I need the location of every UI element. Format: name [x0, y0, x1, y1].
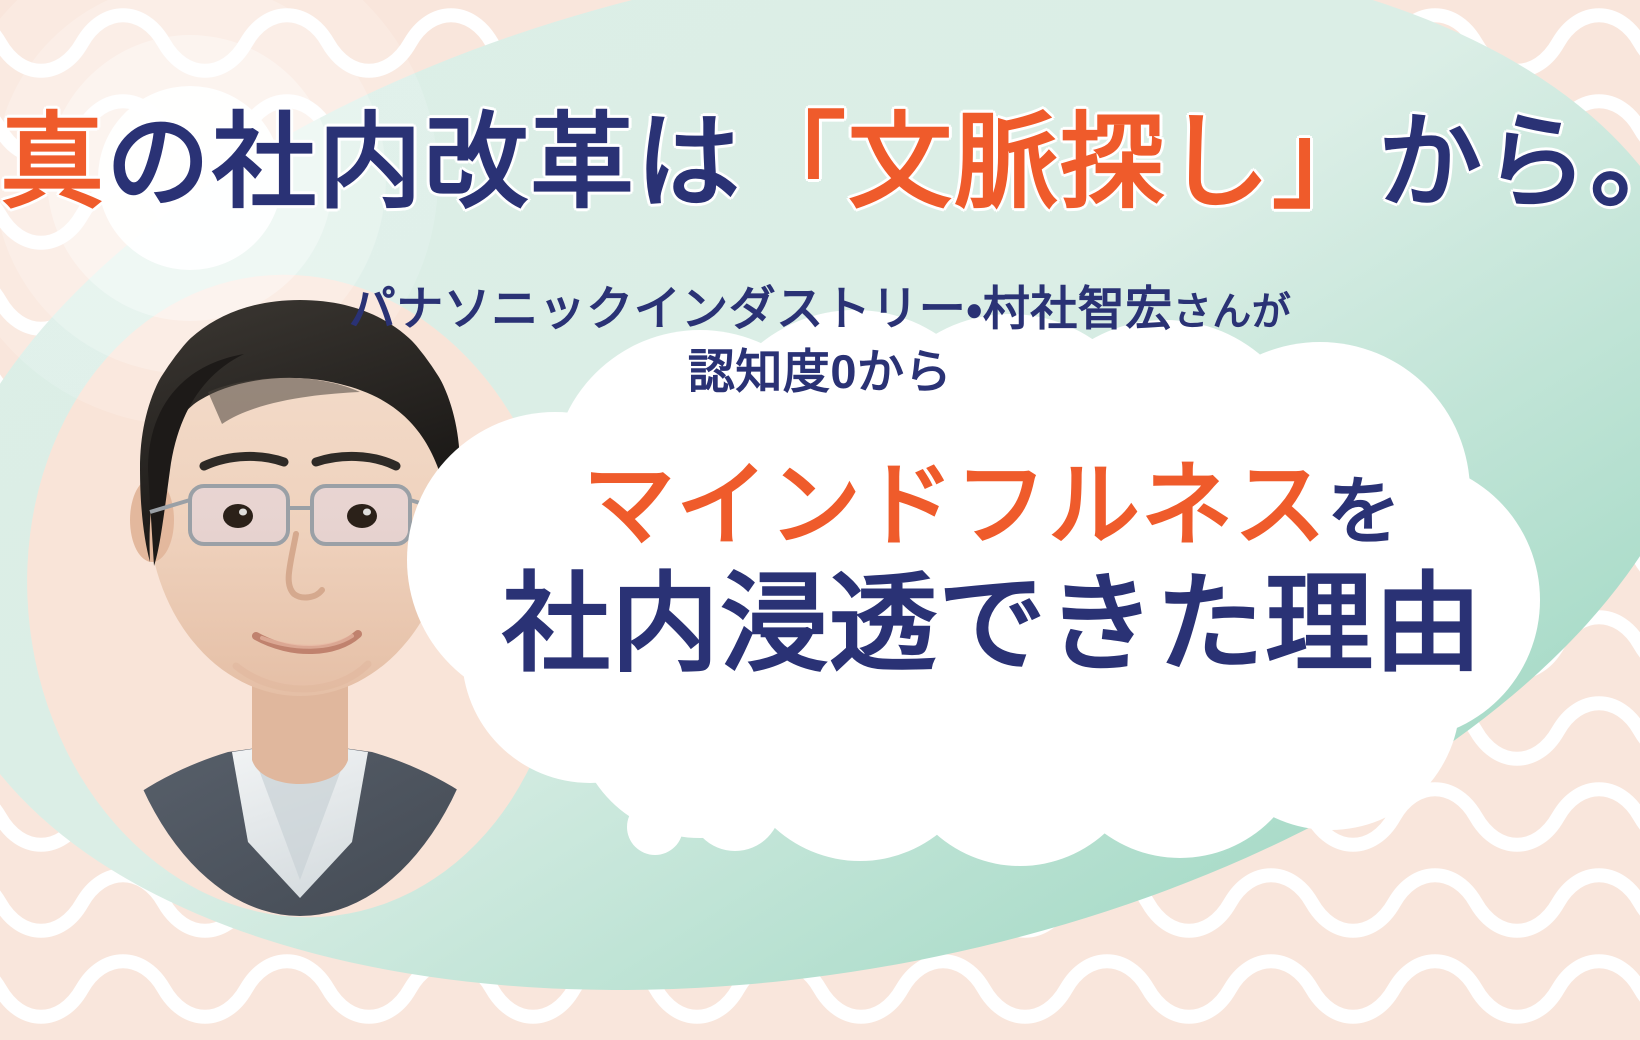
subtitle-line-2: 認知度0から [0, 341, 1640, 404]
subtitle-line-1-suffix: さんが [1173, 291, 1292, 334]
article-hero-banner: 真の社内改革は「文脈探し」から。 パナソニックインダストリー・村社智宏さんが 認… [0, 0, 1640, 1040]
subtitle-line-1-main: パナソニックインダストリー・村社智宏 [349, 282, 1173, 335]
bubble-copy: マインドフルネスを 社内浸透できた理由 [455, 455, 1530, 685]
page-title: 真の社内改革は「文脈探し」から。 [0, 108, 1640, 218]
headline-accent-shin: 真 [0, 105, 106, 221]
bubble-copy-line-2: 社内浸透できた理由 [455, 564, 1530, 685]
banner-copy-layer: 真の社内改革は「文脈探し」から。 パナソニックインダストリー・村社智宏さんが 認… [0, 0, 1640, 1040]
subtitle: パナソニックインダストリー・村社智宏さんが 認知度0から [0, 278, 1640, 404]
headline-part-2: の社内改革は [106, 105, 742, 221]
subtitle-line-1: パナソニックインダストリー・村社智宏さんが [0, 278, 1640, 341]
headline-part-4: から。 [1378, 105, 1640, 221]
bubble-copy-particle-wo: を [1327, 470, 1402, 553]
headline-accent-bunmyaku-sagashi: 「文脈探し」 [742, 105, 1378, 221]
bubble-copy-accent-mindfulness: マインドフルネス [583, 455, 1327, 557]
bubble-copy-line-1: マインドフルネスを [455, 455, 1530, 558]
